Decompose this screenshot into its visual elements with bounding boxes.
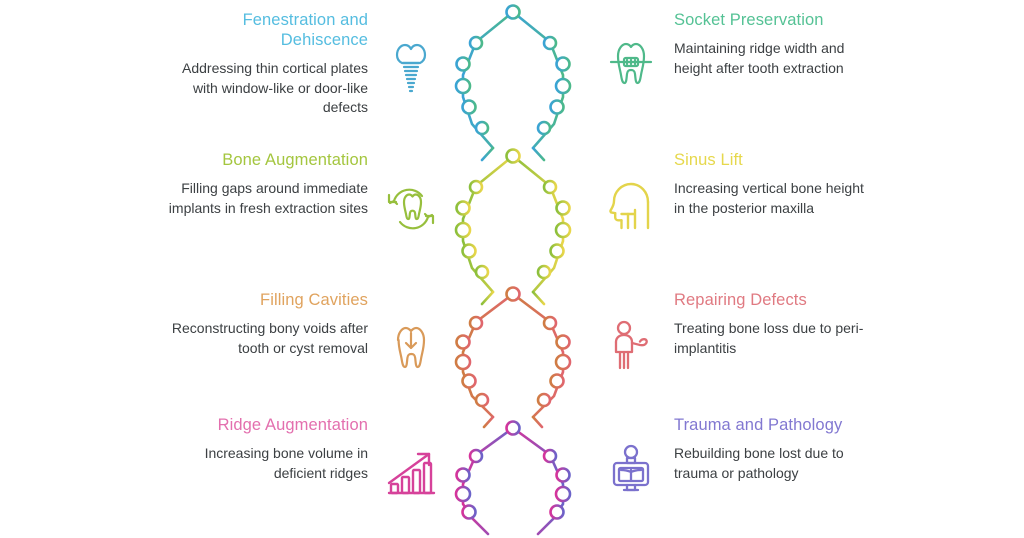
infographic-row-3: Filling Cavities Reconstructing bony voi… (0, 290, 1024, 378)
card-text: Repairing Defects Treating bone loss due… (674, 290, 874, 358)
card-text: Sinus Lift Increasing vertical bone heig… (674, 150, 874, 218)
dentist-person-icon (602, 316, 660, 374)
card-text: Ridge Augmentation Increasing bone volum… (168, 415, 368, 483)
card-description: Increasing vertical bone height in the p… (674, 179, 874, 218)
infographic-canvas: Fenestration and Dehiscence Addressing t… (0, 0, 1024, 538)
card-title: Repairing Defects (674, 290, 874, 310)
card-sinus-lift: Sinus Lift Increasing vertical bone heig… (584, 150, 874, 234)
card-ridge-augmentation: Ridge Augmentation Increasing bone volum… (150, 415, 440, 503)
infographic-row-4: Ridge Augmentation Increasing bone volum… (0, 415, 1024, 503)
card-description: Reconstructing bony voids after tooth or… (168, 319, 368, 358)
card-title: Socket Preservation (674, 10, 874, 30)
dental-implant-icon (382, 40, 440, 98)
tooth-regeneration-icon (382, 180, 440, 238)
card-text: Socket Preservation Maintaining ridge wi… (674, 10, 874, 78)
infographic-row-2: Bone Augmentation Filling gaps around im… (0, 150, 1024, 238)
card-bone-augmentation: Bone Augmentation Filling gaps around im… (150, 150, 440, 238)
growth-chart-icon (382, 445, 440, 503)
card-repairing-defects: Repairing Defects Treating bone loss due… (584, 290, 874, 374)
head-sinus-icon (602, 176, 660, 234)
dental-xray-icon (602, 441, 660, 499)
card-text: Bone Augmentation Filling gaps around im… (168, 150, 368, 218)
card-title: Filling Cavities (168, 290, 368, 310)
card-trauma-and-pathology: Trauma and Pathology Rebuilding bone los… (584, 415, 874, 499)
card-title: Trauma and Pathology (674, 415, 874, 435)
card-fenestration-and-dehiscence: Fenestration and Dehiscence Addressing t… (150, 10, 440, 118)
card-filling-cavities: Filling Cavities Reconstructing bony voi… (150, 290, 440, 378)
card-title: Ridge Augmentation (168, 415, 368, 435)
infographic-row-1: Fenestration and Dehiscence Addressing t… (0, 10, 1024, 118)
card-title: Sinus Lift (674, 150, 874, 170)
tooth-braces-icon (602, 36, 660, 94)
card-description: Addressing thin cortical plates with win… (168, 59, 368, 118)
card-title: Bone Augmentation (168, 150, 368, 170)
card-title: Fenestration and Dehiscence (168, 10, 368, 50)
card-text: Fenestration and Dehiscence Addressing t… (168, 10, 368, 118)
card-text: Trauma and Pathology Rebuilding bone los… (674, 415, 874, 483)
tooth-fill-arrow-icon (382, 320, 440, 378)
card-socket-preservation: Socket Preservation Maintaining ridge wi… (584, 10, 874, 94)
card-description: Filling gaps around immediate implants i… (168, 179, 368, 218)
card-text: Filling Cavities Reconstructing bony voi… (168, 290, 368, 358)
card-description: Rebuilding bone lost due to trauma or pa… (674, 444, 874, 483)
card-description: Increasing bone volume in deficient ridg… (168, 444, 368, 483)
card-description: Maintaining ridge width and height after… (674, 39, 874, 78)
card-description: Treating bone loss due to peri-implantit… (674, 319, 874, 358)
